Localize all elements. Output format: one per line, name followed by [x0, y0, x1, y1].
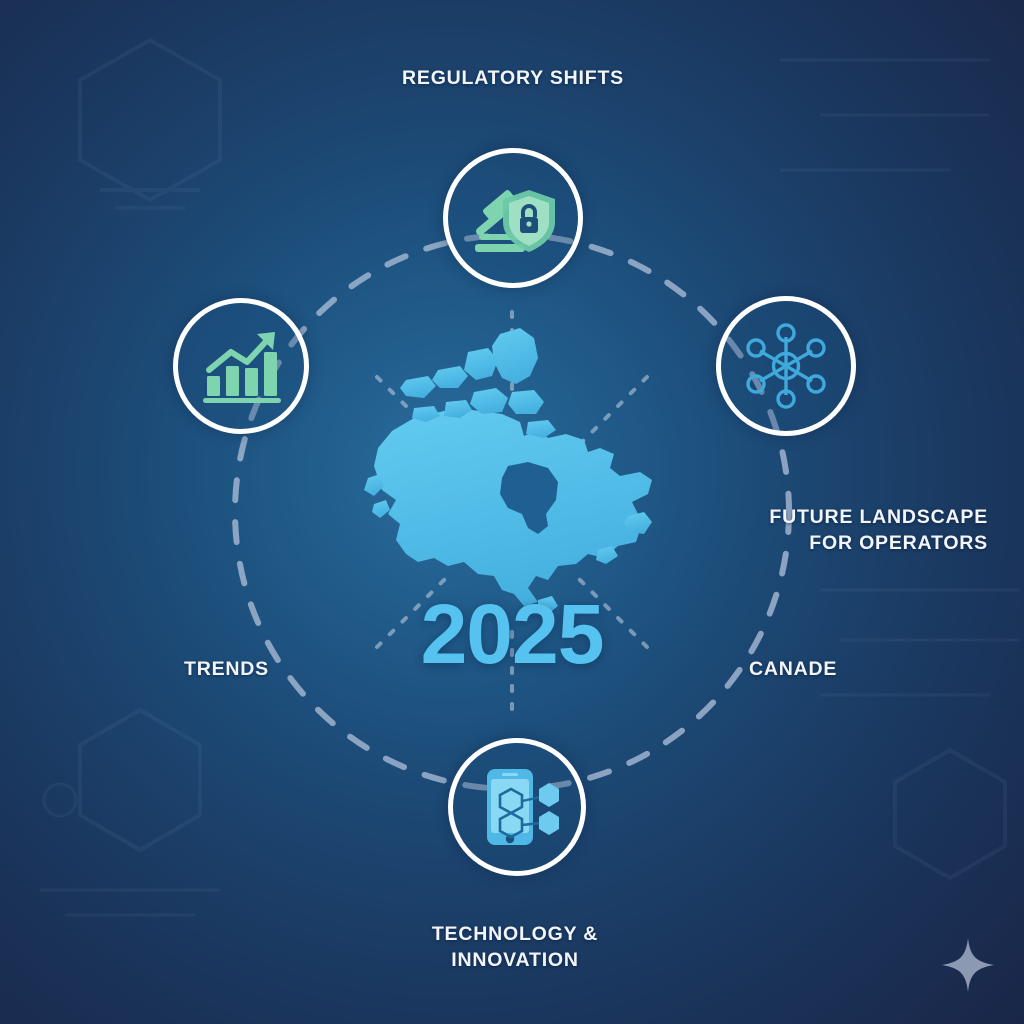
infographic-canvas: 2025 REGULATORY SHIFTS [0, 0, 1024, 1024]
label-technology: TECHNOLOGY & INNOVATION [355, 922, 675, 973]
circuit-watermark-bottom-left [20, 690, 250, 950]
node-technology[interactable] [448, 738, 586, 876]
node-regulatory[interactable] [443, 148, 583, 288]
node-future-landscape[interactable] [716, 296, 856, 436]
label-regulatory: REGULATORY SHIFTS [343, 66, 683, 92]
label-trends: TRENDS [184, 657, 404, 683]
canada-map [352, 318, 672, 618]
network-hub-icon [741, 321, 831, 411]
hexagon-watermark-top-right [760, 20, 1010, 220]
label-future-landscape: FUTURE LANDSCAPE FOR OPERATORS [640, 505, 988, 556]
hexagon-watermark-top-left [60, 30, 240, 230]
growth-chart-arrow-icon [197, 322, 285, 410]
label-canada: CANADE [749, 657, 969, 683]
mobile-hexagon-network-icon [471, 761, 563, 853]
gavel-shield-lock-icon [467, 172, 559, 264]
node-trends[interactable] [173, 298, 309, 434]
four-point-star-sparkle-icon [940, 936, 996, 994]
